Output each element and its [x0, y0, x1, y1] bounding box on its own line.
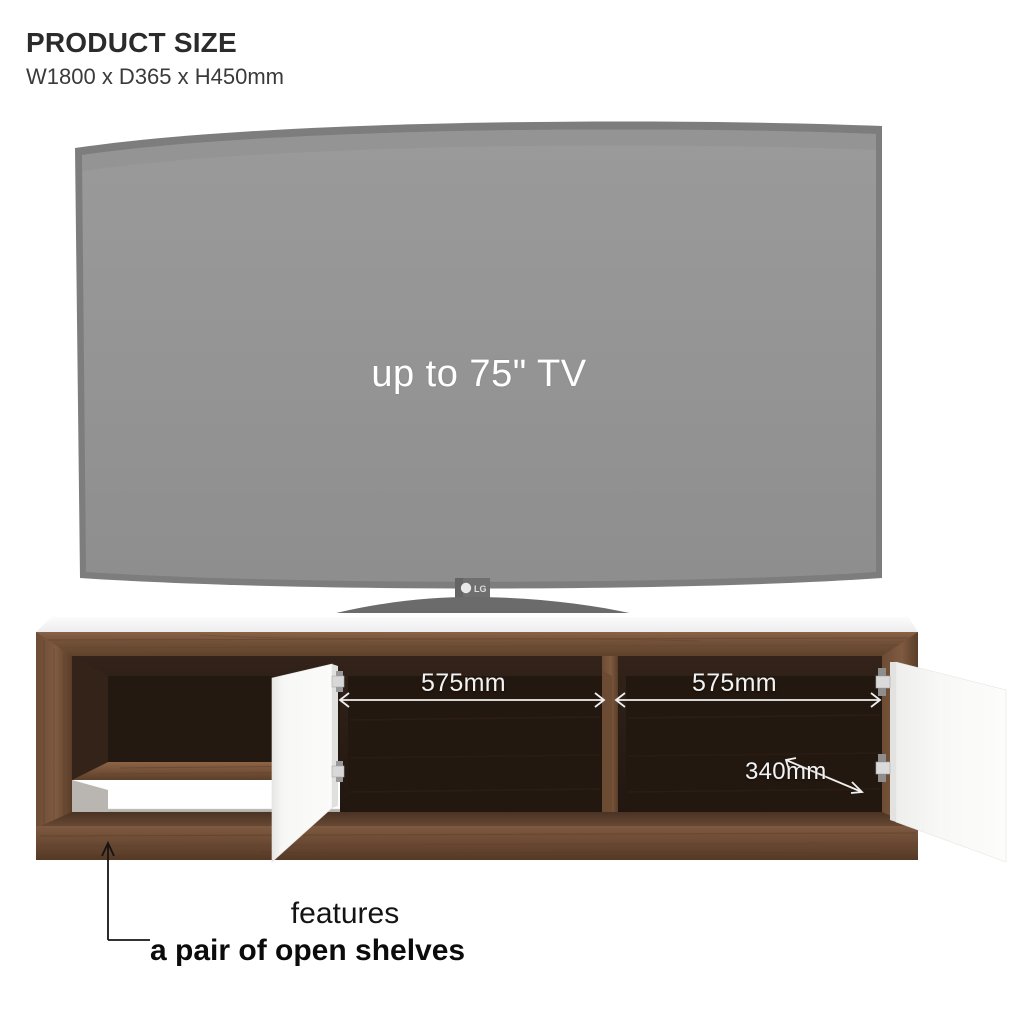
left-upper-shelf-inner-wall: [72, 656, 108, 780]
feature-caption-line1: features: [150, 898, 540, 930]
left-side-grain: [44, 640, 64, 846]
dimension-label-left: 575mm: [421, 669, 506, 698]
right-door-hinge-top: [876, 668, 890, 696]
left-door-hinge-top: [332, 671, 344, 692]
product-dimensions-text: W1800 x D365 x H450mm: [26, 63, 626, 91]
lg-logo-icon: LG: [461, 583, 487, 594]
left-upper-shelf-back: [108, 676, 340, 762]
right-door-edge: [890, 662, 896, 822]
illustration-svg: LG: [0, 0, 1024, 1024]
tv-stand-base: [292, 597, 672, 625]
right-cabinet-door: [876, 662, 1006, 862]
left-shelf-grain: [100, 766, 338, 774]
dimension-label-depth: 340mm: [745, 758, 827, 786]
feature-caption: features a pair of open shelves: [150, 898, 650, 968]
left-lower-shelf-cavity: [72, 780, 340, 826]
feature-caption-line2: a pair of open shelves: [150, 934, 650, 968]
product-illustration: LG: [0, 0, 1024, 1024]
right-door-panel: [896, 662, 1006, 862]
center-cavity-grain: [350, 717, 600, 792]
bottom-rail-grain: [40, 833, 916, 854]
svg-text:LG: LG: [474, 584, 487, 594]
dimension-label-right: 575mm: [692, 669, 777, 698]
tv-screen-highlight: [82, 129, 876, 171]
tv-neck: [455, 578, 490, 614]
cabinet-top-surface-edge: [56, 613, 906, 617]
cabinet-interior-back: [36, 632, 918, 840]
page-title: PRODUCT SIZE: [26, 28, 626, 59]
cabinet-top-rail: [36, 632, 918, 658]
cabinet-left-side-panel: [36, 632, 72, 852]
left-upper-shelf-cavity: [72, 656, 340, 780]
cabinet-top-surface: [36, 613, 918, 632]
tv-size-caption: up to 75" TV: [0, 353, 958, 396]
center-divider-panel: [602, 656, 618, 826]
header-block: PRODUCT SIZE W1800 x D365 x H450mm: [26, 28, 626, 90]
right-door-hinge-bottom: [876, 754, 890, 782]
tv-neck-shadow: [455, 578, 463, 614]
infographic-canvas: PRODUCT SIZE W1800 x D365 x H450mm: [0, 0, 1024, 1024]
cabinet-right-side-panel: [882, 632, 918, 852]
feature-leader-line: [102, 843, 150, 940]
cabinet-bottom-rail: [36, 826, 918, 860]
left-cabinet-door: [272, 664, 344, 862]
center-divider-face: [602, 670, 612, 826]
left-door-panel: [272, 664, 332, 862]
cabinet-bottom-deck: [36, 812, 918, 828]
left-door-hinge-bottom: [332, 761, 344, 782]
tv-stand-base-shade: [292, 614, 672, 629]
left-middle-shelf-board: [72, 762, 340, 780]
left-lower-shelf-opening: [108, 790, 340, 808]
left-door-edge: [332, 664, 338, 808]
tv-stand-cabinet: [36, 613, 1006, 862]
left-lower-shelf-inner-wall: [72, 780, 108, 826]
top-rail-grain: [40, 635, 916, 648]
